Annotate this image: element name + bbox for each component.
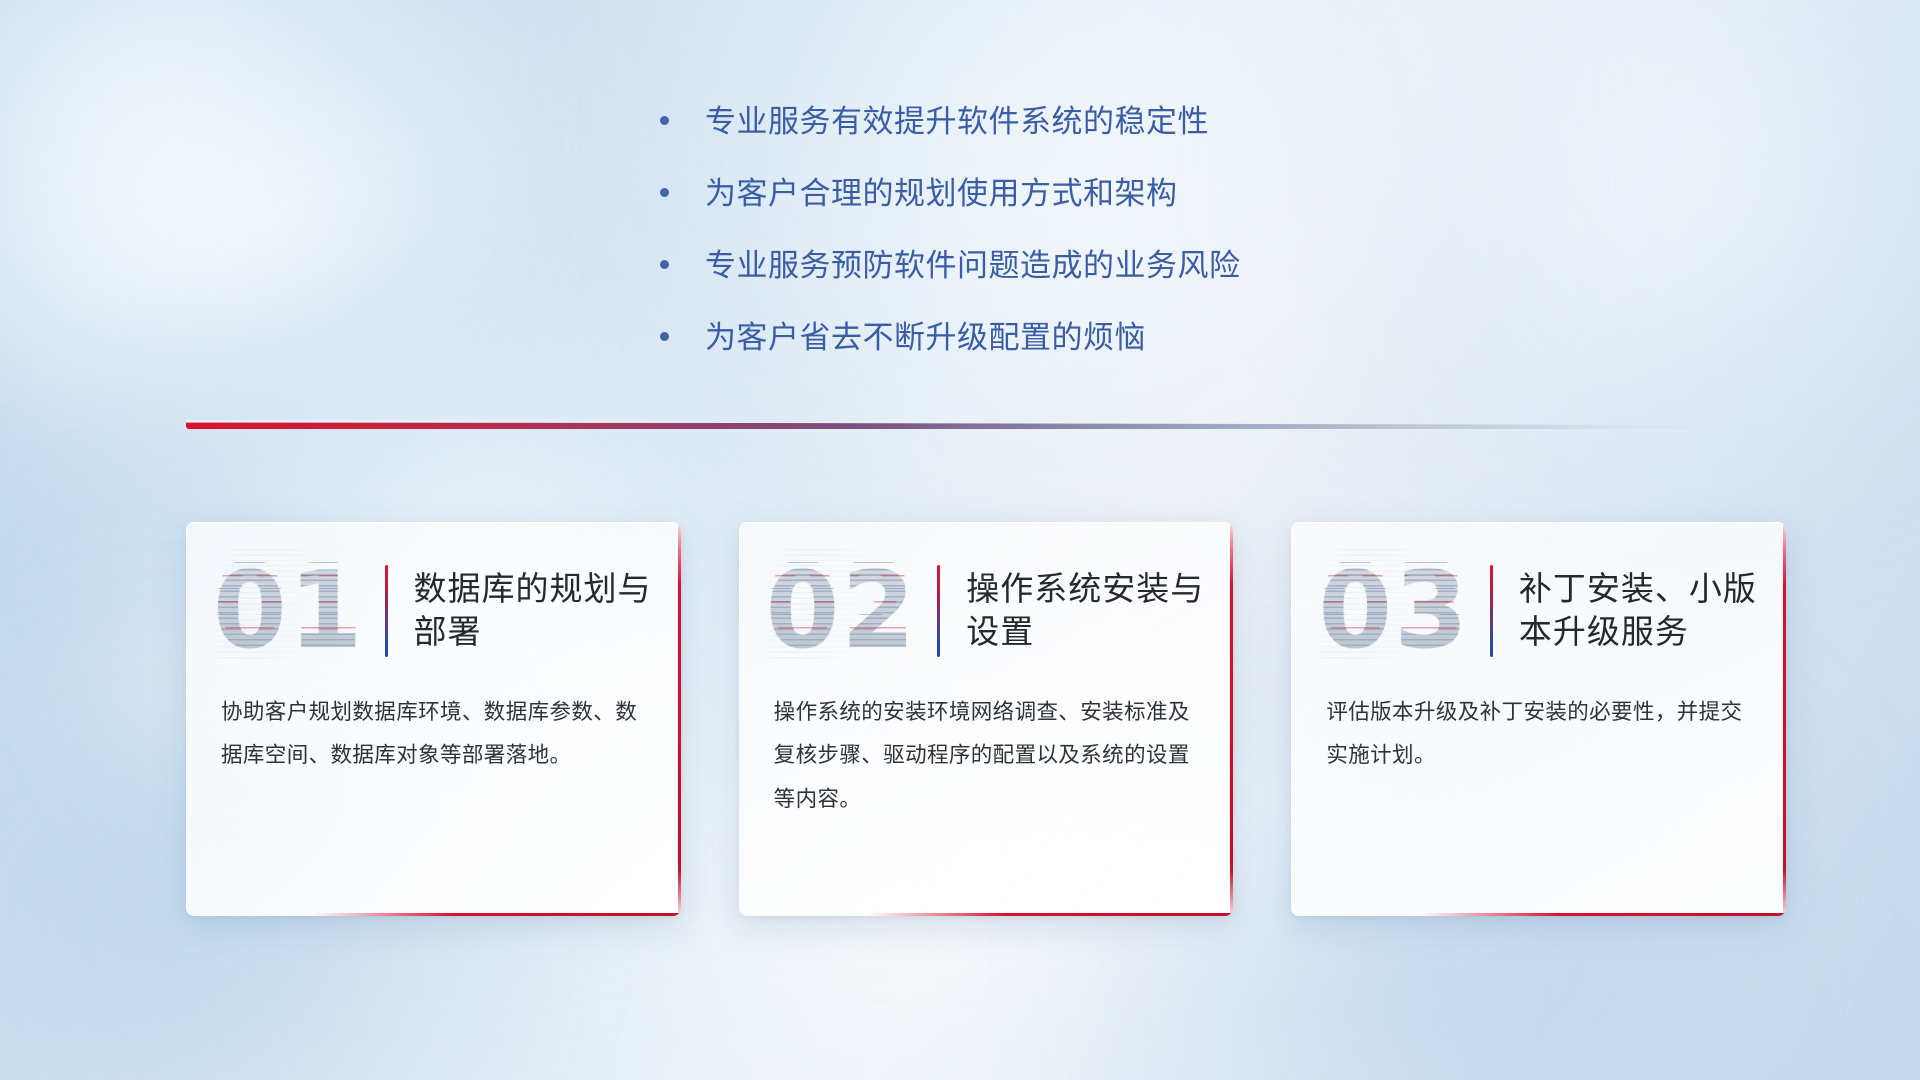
benefits-bullet-list: 专业服务有效提升软件系统的稳定性 为客户合理的规划使用方式和架构 专业服务预防软… — [660, 102, 1560, 390]
card-header: 01 01 数据库的规划与部署 — [187, 523, 681, 673]
card-title: 数据库的规划与部署 — [414, 568, 681, 654]
card-title: 操作系统安装与设置 — [966, 568, 1233, 654]
card-title: 补丁安装、小版本升级服务 — [1519, 568, 1786, 654]
card-bottom-accent-edge — [868, 913, 1233, 916]
card-description: 协助客户规划数据库环境、数据库参数、数据库空间、数据库对象等部署落地。 — [187, 673, 681, 778]
bullet-dot-icon — [660, 188, 669, 197]
list-item: 专业服务有效提升软件系统的稳定性 — [660, 102, 1560, 143]
slide-content: 专业服务有效提升软件系统的稳定性 为客户合理的规划使用方式和架构 专业服务预防软… — [0, 0, 1920, 1080]
bullet-text: 专业服务有效提升软件系统的稳定性 — [705, 102, 1209, 143]
bullet-text: 专业服务预防软件问题造成的业务风险 — [705, 246, 1241, 287]
card-description: 操作系统的安装环境网络调查、安装标准及复核步骤、驱动程序的配置以及系统的设置等内… — [740, 673, 1234, 821]
card-number: 02 — [766, 558, 918, 664]
service-card[interactable]: 02 02 操作系统安装与设置 操作系统的安装环境网络调查、安装标准及复核步骤、… — [739, 522, 1234, 916]
list-item: 专业服务预防软件问题造成的业务风险 — [660, 246, 1560, 287]
card-header: 02 02 操作系统安装与设置 — [740, 523, 1234, 673]
bullet-dot-icon — [660, 116, 669, 125]
bullet-dot-icon — [660, 332, 669, 341]
service-card[interactable]: 03 03 补丁安装、小版本升级服务 评估版本升级及补丁安装的必要性，并提交实施… — [1291, 522, 1786, 916]
card-title-separator-bar — [1490, 565, 1493, 657]
bullet-dot-icon — [660, 260, 669, 269]
service-card[interactable]: 01 01 数据库的规划与部署 协助客户规划数据库环境、数据库参数、数据库空间、… — [186, 522, 681, 916]
divider-highlight — [186, 420, 1178, 423]
card-number: 03 — [1318, 558, 1470, 664]
section-divider — [186, 416, 1786, 438]
card-bottom-accent-edge — [315, 913, 680, 916]
list-item: 为客户合理的规划使用方式和架构 — [660, 174, 1560, 215]
bullet-text: 为客户合理的规划使用方式和架构 — [705, 174, 1178, 215]
card-title-separator-bar — [385, 565, 388, 657]
card-description: 评估版本升级及补丁安装的必要性，并提交实施计划。 — [1292, 673, 1786, 778]
list-item: 为客户省去不断升级配置的烦恼 — [660, 318, 1560, 359]
card-header: 03 03 补丁安装、小版本升级服务 — [1292, 523, 1786, 673]
card-title-separator-bar — [937, 565, 940, 657]
card-number: 01 — [213, 558, 365, 664]
service-card-list: 01 01 数据库的规划与部署 协助客户规划数据库环境、数据库参数、数据库空间、… — [186, 522, 1786, 916]
card-bottom-accent-edge — [1421, 913, 1786, 916]
bullet-text: 为客户省去不断升级配置的烦恼 — [705, 318, 1146, 359]
divider-line — [186, 422, 1786, 429]
